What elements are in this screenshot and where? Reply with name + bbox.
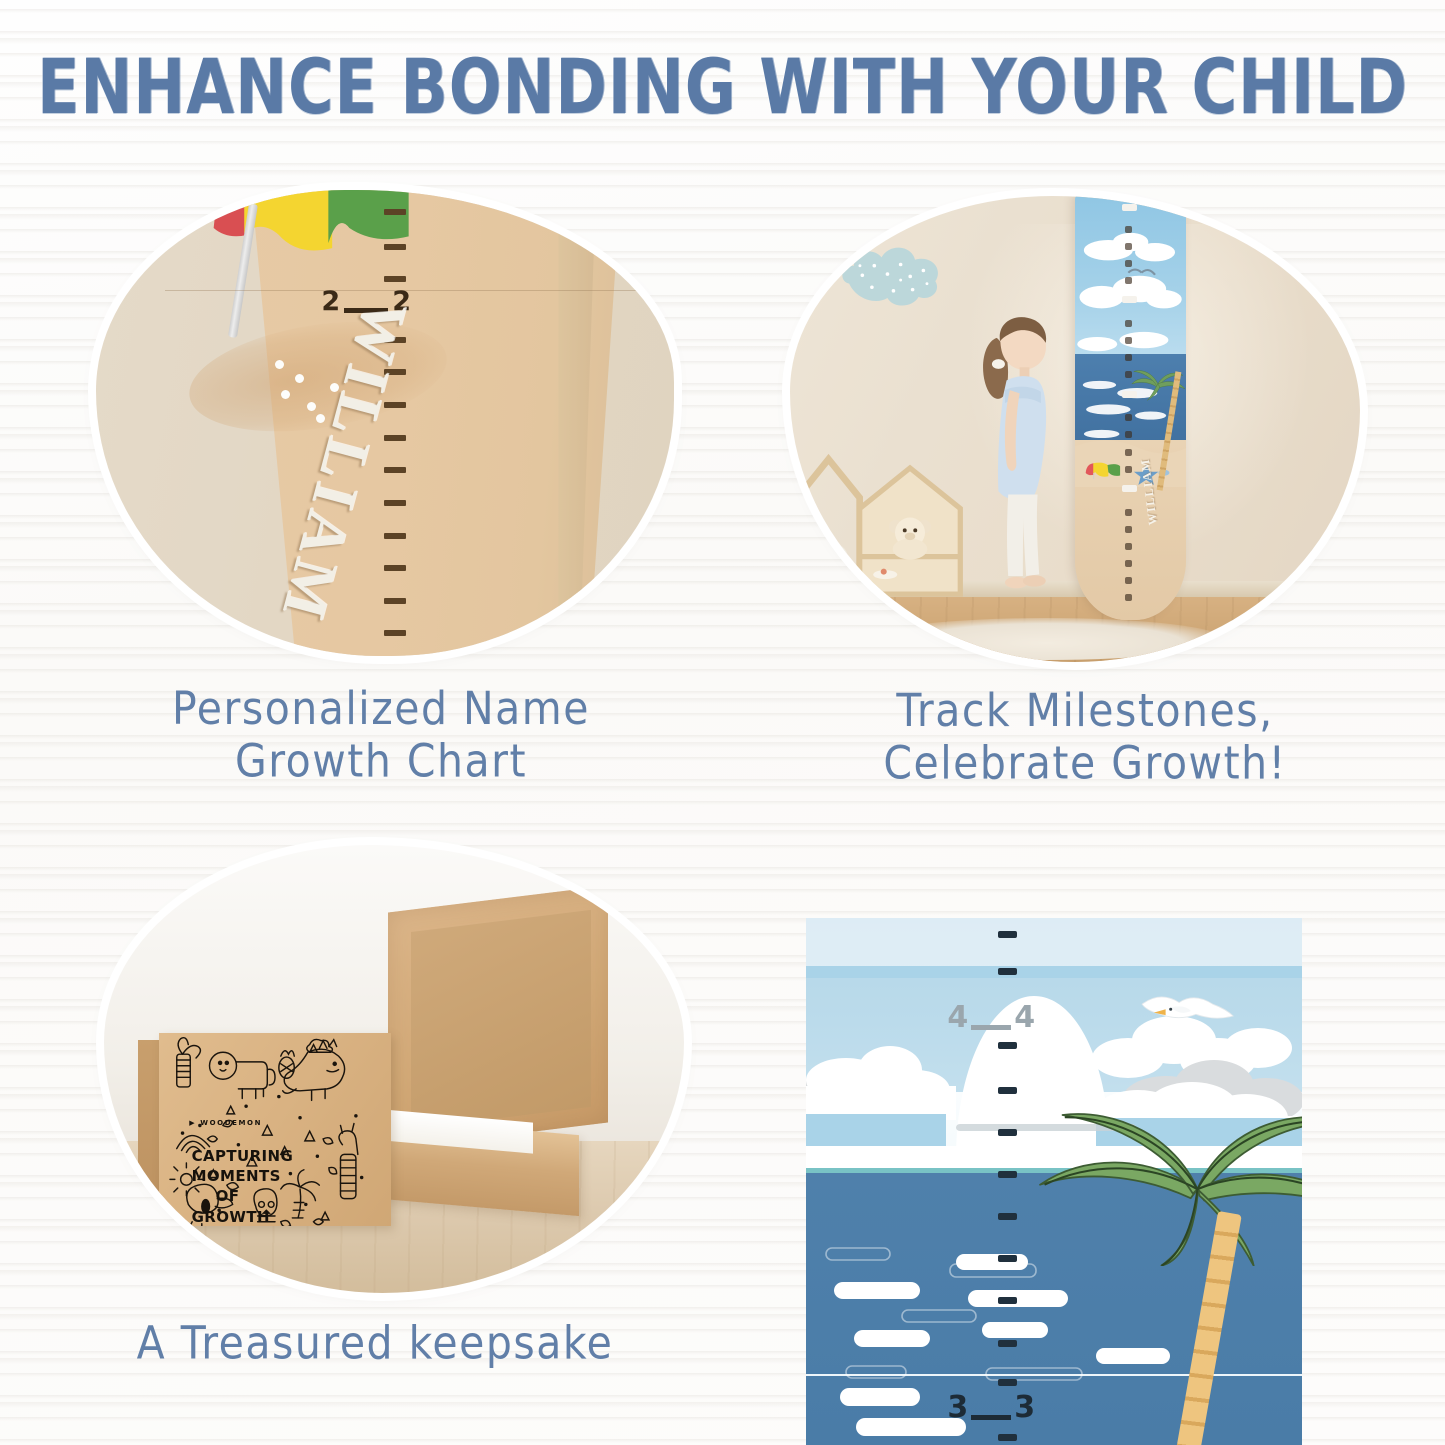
cloud-pillow — [836, 238, 956, 313]
box-brand-logo: ▶ WOODEMON — [189, 1119, 262, 1127]
brand-name: WOODEMON — [200, 1119, 262, 1127]
panel-packaging-keepsake-box: ▶ WOODEMON CAPTURING MOMENTS OF GROWTH — [104, 845, 684, 1293]
ruler-tick-column — [990, 918, 1030, 1445]
ruler-label-4: 44 — [947, 1000, 1035, 1035]
child-standing — [961, 289, 1075, 615]
ruler-numeral-right: 3 — [1014, 1390, 1035, 1425]
open-box-lid-inner — [411, 910, 591, 1129]
caption-treasured-keepsake: A Treasured keepsake — [60, 1318, 690, 1371]
panel-beach-growth-chart-closeup: 44 33 — [806, 918, 1302, 1445]
box-title-line: OF GROWTH — [192, 1186, 264, 1227]
panel-3-scene: ▶ WOODEMON CAPTURING MOMENTS OF GROWTH — [104, 845, 684, 1293]
panel-personalized-name-growth-chart: 22 WILLIAM — [96, 190, 674, 656]
floor-rug — [870, 618, 1223, 660]
caption-line: Track Milestones, — [790, 685, 1380, 738]
caption-line: Personalized Name — [86, 683, 676, 736]
caption-track-milestones: Track Milestones, Celebrate Growth! — [790, 685, 1380, 791]
surfboard-growth-chart: WILLIAM — [1075, 196, 1186, 620]
box-title-line: CAPTURING — [192, 1146, 264, 1166]
ruler-measure-bar — [971, 1415, 1011, 1420]
ruler-numeral-right: 4 — [1014, 1000, 1035, 1035]
ruler-numeral-left: 4 — [947, 1000, 968, 1035]
standing-box-front: ▶ WOODEMON CAPTURING MOMENTS OF GROWTH — [159, 1033, 391, 1226]
page-title: ENHANCE BONDING WITH YOUR CHILD — [0, 42, 1445, 131]
box-title: CAPTURING MOMENTS OF GROWTH — [192, 1146, 264, 1227]
ruler-label-3: 33 — [947, 1390, 1035, 1425]
board-beach-umbrella — [1084, 449, 1122, 492]
brand-mark-icon: ▶ — [189, 1119, 196, 1127]
panel-child-measuring-height: WILLIAM — [790, 196, 1360, 662]
palm-tree-fronds — [1004, 1097, 1302, 1266]
ruler-numeral-left: 2 — [321, 286, 340, 317]
caption-line: Growth Chart — [86, 736, 676, 789]
panel-1-backdrop: 22 WILLIAM — [96, 190, 674, 656]
sand-dot — [307, 402, 316, 411]
caption-line: Celebrate Growth! — [790, 738, 1380, 791]
panel-2-scene: WILLIAM — [790, 196, 1360, 662]
house-shaped-shelf — [853, 462, 967, 597]
seagull-icon — [1133, 989, 1242, 1031]
caption-line: A Treasured keepsake — [60, 1318, 690, 1371]
caption-personalized-name: Personalized Name Growth Chart — [86, 683, 676, 789]
board-ruler-dots — [1125, 196, 1136, 620]
ruler-numeral-left: 3 — [947, 1390, 968, 1425]
ruler-measure-bar — [971, 1025, 1011, 1030]
box-title-line: MOMENTS — [192, 1166, 264, 1186]
